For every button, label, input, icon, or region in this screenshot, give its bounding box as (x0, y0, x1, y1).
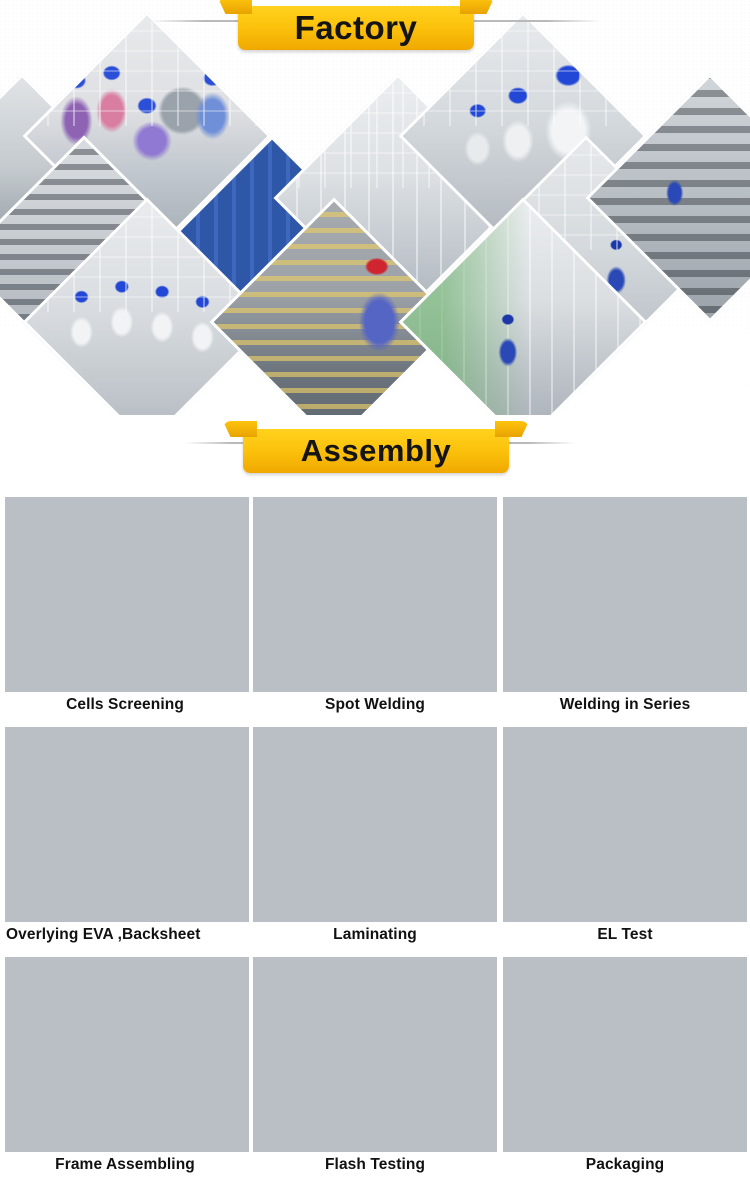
welding-in-series-photo (503, 497, 747, 692)
caption-packaging: Packaging (500, 1156, 750, 1174)
assembly-step-el-test: EL Test (500, 727, 750, 957)
el-test-photo (503, 727, 747, 922)
frame-assembling-photo (5, 957, 249, 1152)
factory-banner-label: Factory (295, 9, 418, 47)
caption-spot-welding: Spot Welding (250, 696, 500, 714)
caption-welding-in-series: Welding in Series (500, 696, 750, 714)
caption-laminating: Laminating (250, 926, 500, 944)
assembly-step-cells-screening: Cells Screening (0, 497, 250, 727)
ribbon-tail-right-icon (495, 421, 529, 437)
factory-diamond-collage (0, 0, 750, 415)
cells-screening-photo (5, 497, 249, 692)
spot-welding-photo (253, 497, 497, 692)
caption-flash-testing: Flash Testing (250, 1156, 500, 1174)
flash-testing-photo (253, 957, 497, 1152)
factory-banner: Factory (238, 6, 474, 50)
caption-cells-screening: Cells Screening (0, 696, 250, 714)
assembly-step-welding-in-series: Welding in Series (500, 497, 750, 727)
caption-el-test: EL Test (500, 926, 750, 944)
ribbon-tail-left-icon (223, 421, 257, 437)
assembly-banner-label: Assembly (301, 433, 451, 469)
factory-section: Factory (0, 0, 750, 415)
assembly-step-frame-assembling: Frame Assembling (0, 957, 250, 1186)
packaging-photo (503, 957, 747, 1152)
assembly-step-packaging: Packaging (500, 957, 750, 1186)
assembly-step-spot-welding: Spot Welding (250, 497, 500, 727)
assembly-step-flash-testing: Flash Testing (250, 957, 500, 1186)
assembly-step-overlying-eva-backsheet: Overlying EVA ,Backsheet (0, 727, 250, 957)
assembly-process-grid: Cells Screening Spot Welding Welding in … (0, 497, 750, 1186)
caption-frame-assembling: Frame Assembling (0, 1156, 250, 1174)
caption-overlying-eva-backsheet: Overlying EVA ,Backsheet (0, 926, 250, 944)
overlying-eva-photo (5, 727, 249, 922)
assembly-banner: Assembly (243, 429, 509, 473)
assembly-step-laminating: Laminating (250, 727, 500, 957)
laminating-photo (253, 727, 497, 922)
